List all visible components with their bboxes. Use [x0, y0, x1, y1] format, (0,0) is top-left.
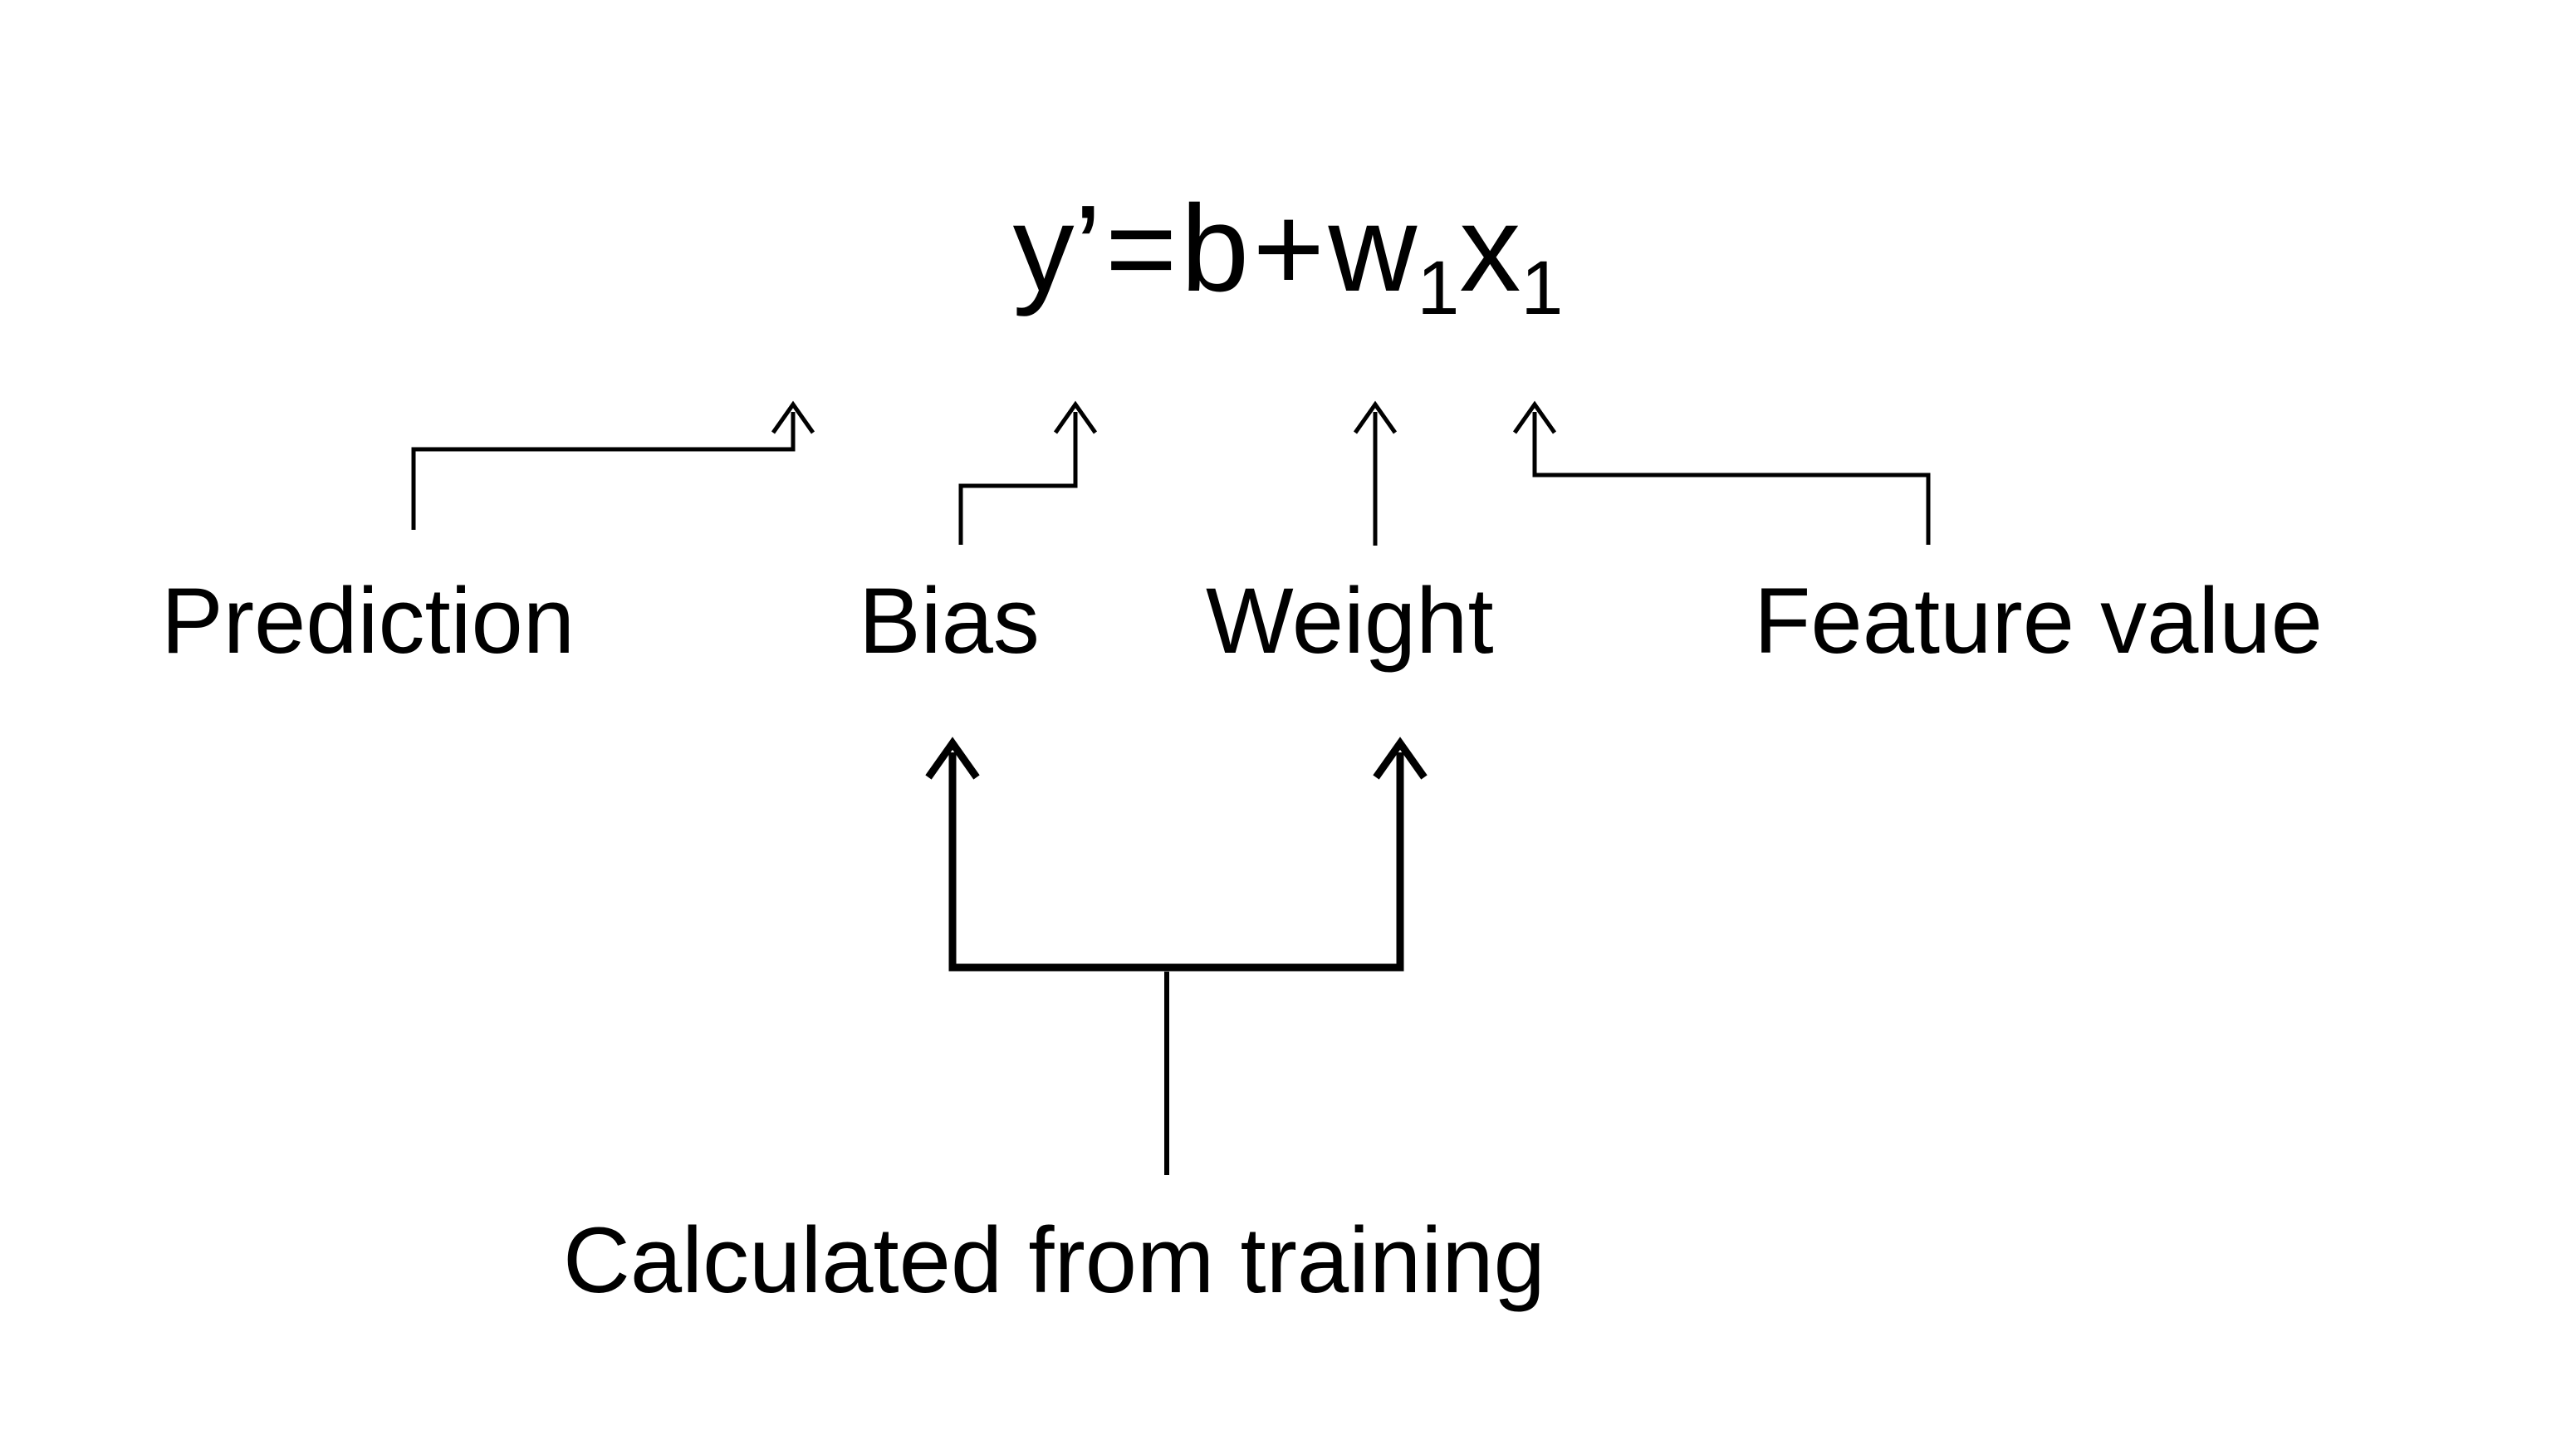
equation-feature-symbol: x: [1459, 180, 1521, 317]
label-feature-value: Feature value: [1754, 575, 2323, 668]
equation-bias-term: b: [1181, 180, 1249, 317]
equation-weight-subscript: 1: [1417, 246, 1459, 331]
equation-expression: y’=b+w1x1: [0, 188, 2576, 311]
label-prediction: Prediction: [161, 575, 575, 668]
equation-equals-operator: =: [1102, 180, 1181, 317]
weight-arrow: [1355, 404, 1395, 546]
diagram-canvas: y’=b+w1x1 Prediction Bias Weight Feature…: [0, 0, 2576, 1440]
label-bias: Bias: [859, 575, 1040, 668]
equation-feature-subscript: 1: [1521, 246, 1563, 331]
bias-arrow: [961, 404, 1095, 545]
equation-plus-operator: +: [1249, 180, 1328, 317]
equation-lhs: y’: [1013, 180, 1102, 317]
feature-value-arrow: [1515, 404, 1928, 545]
prediction-arrow: [414, 404, 813, 530]
training-bracket: [928, 743, 1424, 1175]
component-label-row: Prediction Bias Weight Feature value: [0, 575, 2576, 674]
caption-calculated-from-training: Calculated from training: [563, 1214, 1545, 1307]
label-weight: Weight: [1206, 575, 1494, 668]
equation-weight-symbol: w: [1328, 180, 1417, 317]
